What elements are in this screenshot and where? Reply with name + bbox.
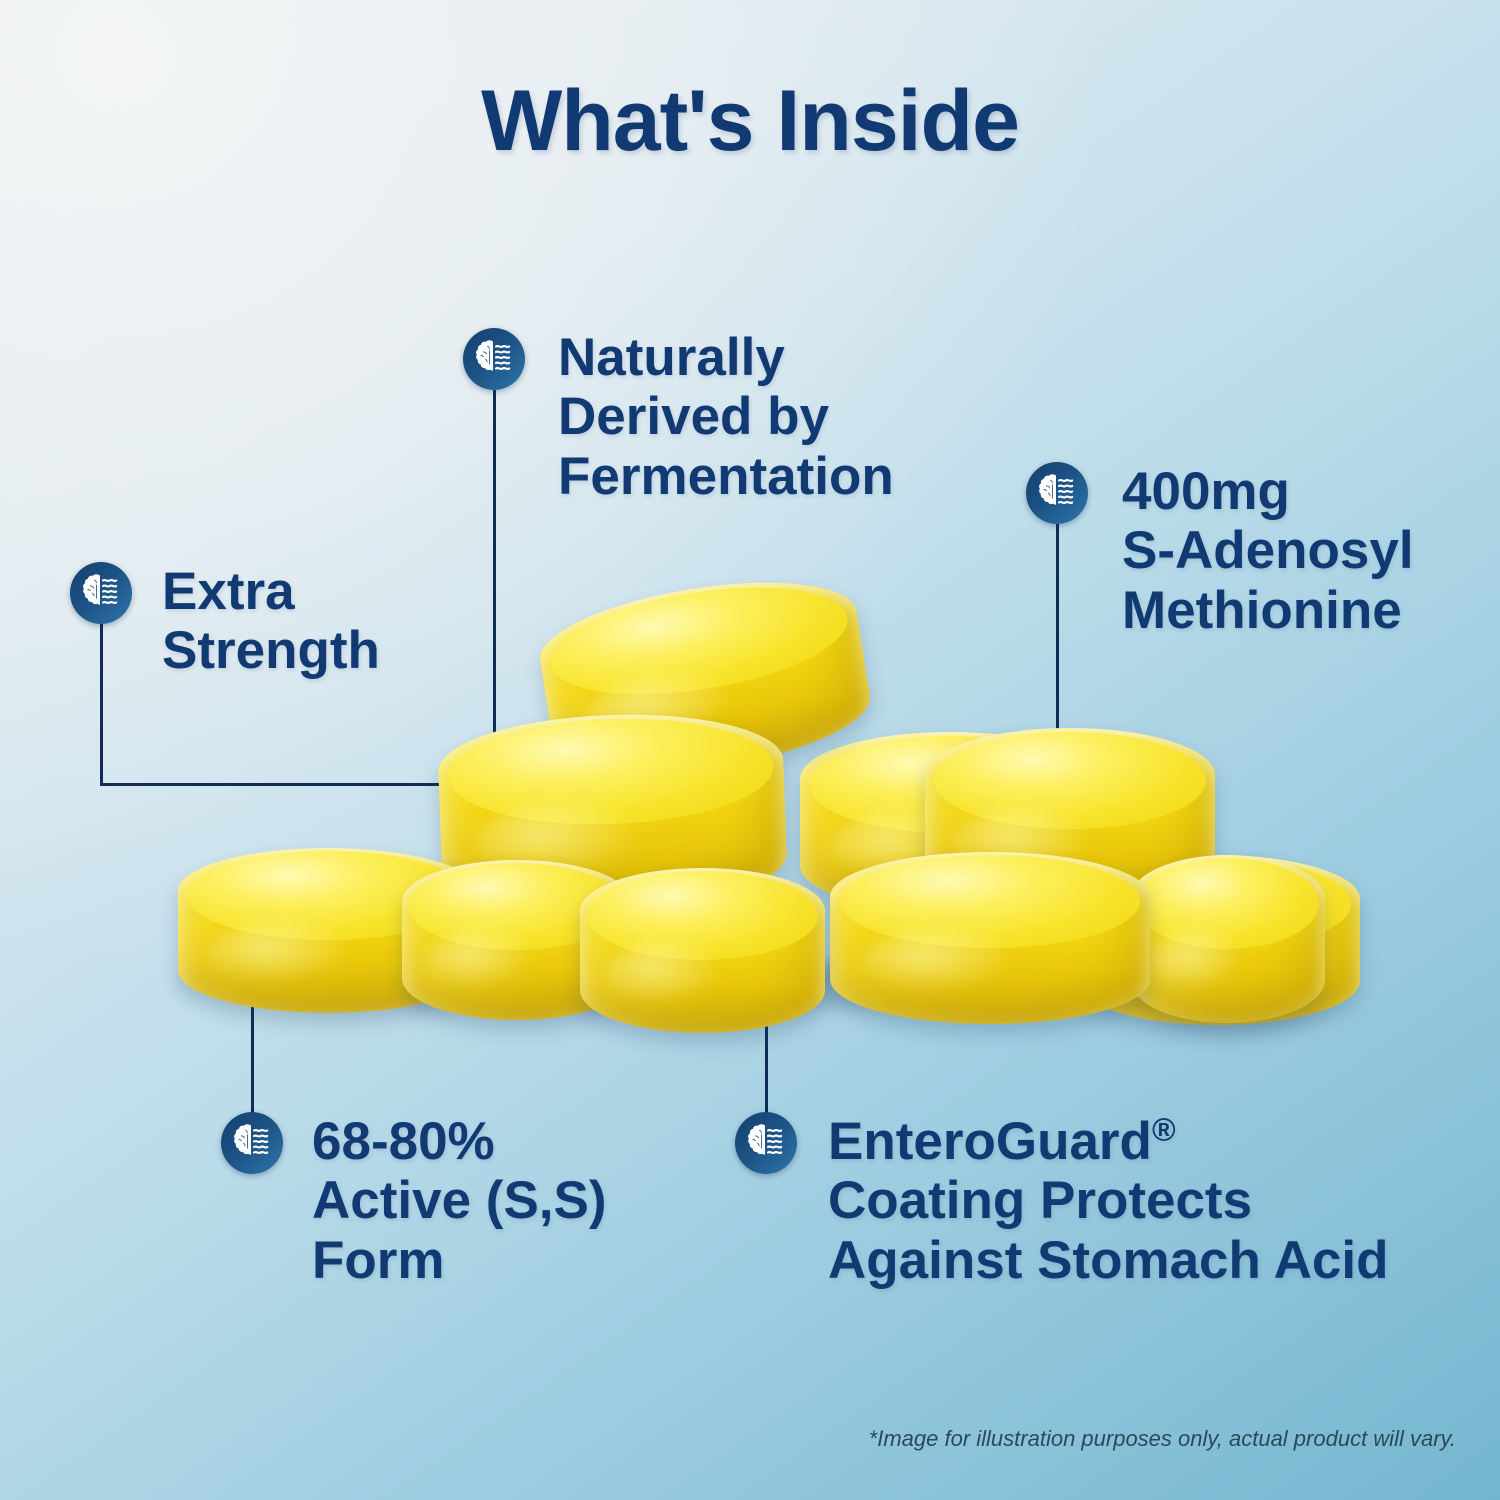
leader-line-fermentation-vertical <box>493 390 496 784</box>
callout-label-extra-strength: Extra Strength <box>162 562 380 681</box>
enteroguard-brand: EnteroGuard <box>828 1112 1152 1171</box>
tablet-front-center <box>580 868 825 1033</box>
leader-line-extra-strength-vertical <box>100 624 103 786</box>
tablet-front-far-right <box>1130 855 1325 1023</box>
enteroguard-description: Coating Protects Against Stomach Acid <box>828 1171 1389 1289</box>
brain-icon-dosage <box>1026 462 1088 524</box>
tablet-front-right <box>830 852 1150 1024</box>
product-infographic: What's Inside <box>0 0 1500 1500</box>
callout-label-active-form: 68-80% Active (S,S) Form <box>312 1112 607 1290</box>
page-title: What's Inside <box>0 72 1500 171</box>
brain-icon-fermentation <box>463 328 525 390</box>
disclaimer-text: *Image for illustration purposes only, a… <box>869 1426 1456 1452</box>
callout-label-fermentation: Naturally Derived by Fermentation <box>558 328 894 506</box>
brain-icon-enteroguard <box>735 1112 797 1174</box>
callout-label-enteroguard: EnteroGuard® Coating Protects Against St… <box>828 1112 1389 1290</box>
callout-label-dosage: 400mg S-Adenosyl Methionine <box>1122 462 1414 640</box>
brain-icon-extra-strength <box>70 562 132 624</box>
registered-trademark-symbol: ® <box>1152 1111 1176 1147</box>
brain-icon-active-form <box>221 1112 283 1174</box>
